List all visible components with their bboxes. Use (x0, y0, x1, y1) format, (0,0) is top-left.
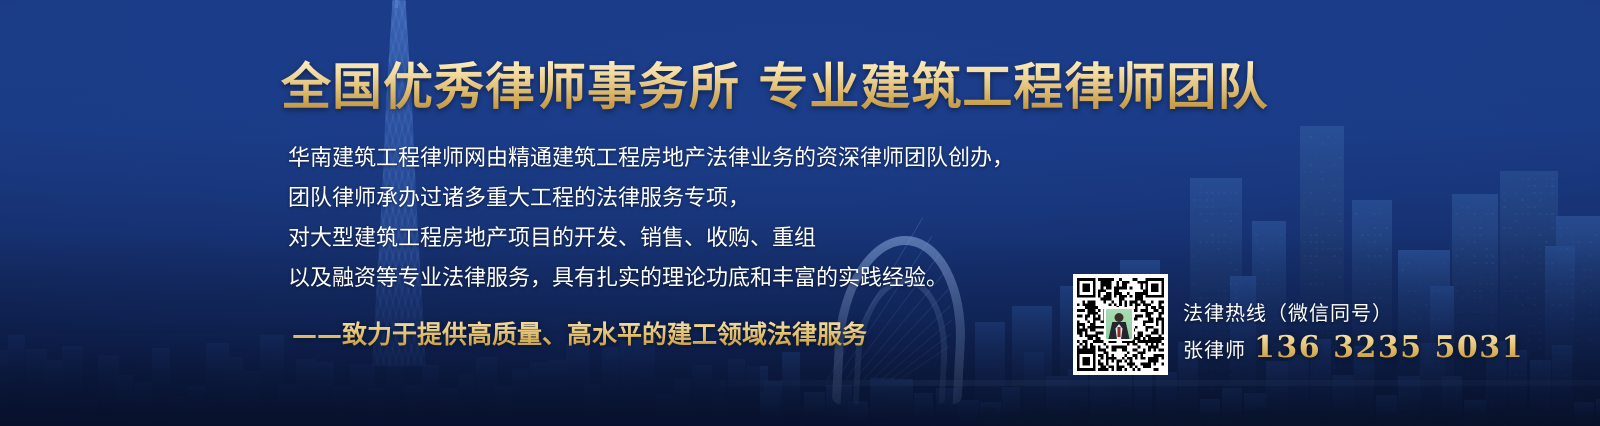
contact-block: 法律热线（微信同号） 张律师 136 3235 5031 (1183, 300, 1524, 366)
hotline-label: 法律热线（微信同号） (1183, 300, 1524, 328)
wechat-qr-block[interactable] (1048, 265, 1168, 383)
phone-row: 张律师 136 3235 5031 (1183, 332, 1524, 366)
body-line-2: 团队律师承办过诸多重大工程的法律服务专项， (288, 178, 1014, 218)
banner-headline: 全国优秀律师事务所 专业建筑工程律师团队 (281, 57, 1268, 117)
banner-tagline: ——致力于提供高质量、高水平的建工领域法律服务 (292, 318, 867, 352)
body-line-1: 华南建筑工程律师网由精通建筑工程房地产法律业务的资深律师团队创办， (288, 138, 1014, 178)
phone-number[interactable]: 136 3235 5031 (1254, 332, 1524, 364)
law-firm-hero-banner: 全国优秀律师事务所 专业建筑工程律师团队 华南建筑工程律师网由精通建筑工程房地产… (0, 0, 1600, 426)
qr-avatar-icon (1104, 307, 1134, 341)
body-line-4: 以及融资等专业法律服务，具有扎实的理论功底和丰富的实践经验。 (288, 258, 1014, 298)
body-line-3: 对大型建筑工程房地产项目的开发、销售、收购、重组 (288, 218, 1014, 258)
banner-body-copy: 华南建筑工程律师网由精通建筑工程房地产法律业务的资深律师团队创办， 团队律师承办… (288, 138, 1014, 298)
phone-prefix-label: 张律师 (1183, 336, 1246, 366)
